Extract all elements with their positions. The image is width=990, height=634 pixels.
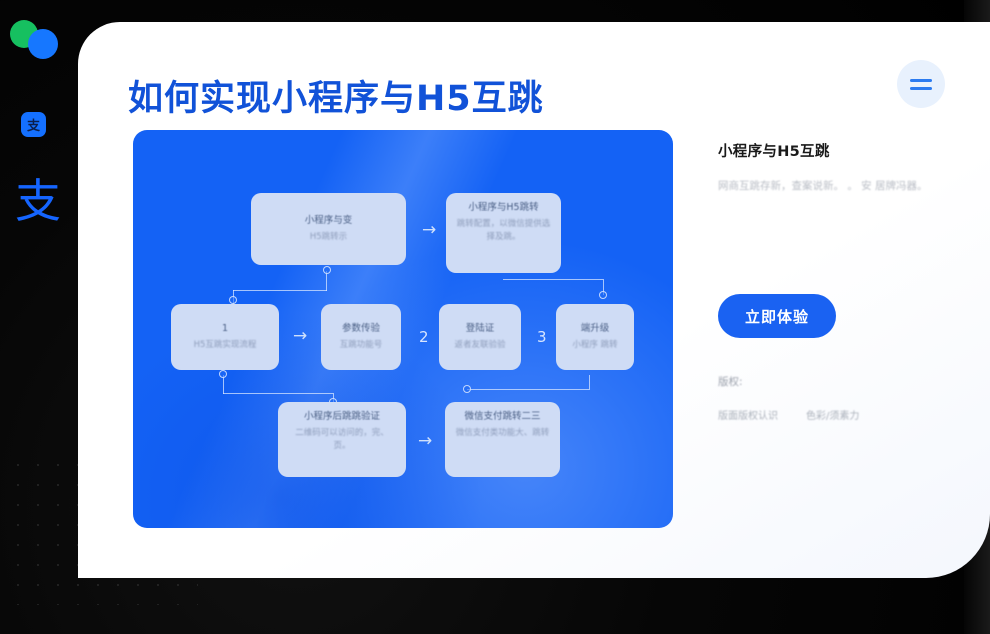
- footer-block: 版权: 版面版权认识 色彩/须素力: [718, 374, 958, 422]
- node-title: 微信支付跳转二三: [455, 410, 550, 424]
- node-body: H5互跳实现流程: [181, 339, 269, 352]
- connector-segment: [223, 393, 333, 394]
- node-body: 微信支付类功能大、跳转: [455, 427, 550, 440]
- node-title: 参数传验: [331, 322, 391, 336]
- arrow-icon: →: [293, 328, 307, 345]
- info-column: 小程序与H5互跳 网商互跳存新，查案说新。 。 安 居牌冯器。: [718, 140, 948, 196]
- menu-line-top: [910, 79, 932, 82]
- node-body: 二维码可以访问的，完、页。: [288, 427, 396, 453]
- node-body: H5跳转示: [261, 231, 396, 244]
- footer-label: 版权:: [718, 374, 958, 389]
- connector-left: [221, 265, 331, 305]
- page-title: 如何实现小程序与H5互跳: [128, 70, 544, 121]
- connector-segment: [233, 290, 327, 291]
- connector-dot: [463, 385, 471, 393]
- connector-segment: [326, 271, 327, 291]
- connector-dot: [599, 291, 607, 299]
- node-body: 返者友联验验: [449, 339, 511, 352]
- app-icon-glyph: 支: [27, 115, 40, 134]
- blue-circle-icon: [28, 29, 58, 59]
- left-rail: 支 支: [0, 0, 78, 634]
- connector-segment: [589, 375, 590, 390]
- node-title: 端升级: [566, 322, 624, 336]
- node-title: 小程序与变: [261, 214, 396, 228]
- connector-dot: [229, 296, 237, 304]
- connector-dot: [219, 370, 227, 378]
- arrow-icon: →: [422, 222, 436, 239]
- flow-node[interactable]: 小程序与变 H5跳转示: [251, 193, 406, 265]
- flow-node[interactable]: 端升级 小程序 跳转: [556, 304, 634, 370]
- connector-segment: [467, 389, 589, 390]
- footer-items: 版面版权认识 色彩/须素力: [718, 407, 958, 422]
- flow-node[interactable]: 小程序与H5跳转 跳转配置，以微信提供选择及跳。: [446, 193, 561, 273]
- flow-node[interactable]: 1 H5互跳实现流程: [171, 304, 279, 370]
- arrow-icon: →: [418, 433, 432, 450]
- flow-diagram-panel: 小程序与变 H5跳转示 → 小程序与H5跳转 跳转配置，以微信提供选择及跳。 1…: [133, 130, 673, 528]
- footer-item: 版面版权认识: [718, 407, 778, 422]
- flow-node[interactable]: 小程序后跳跳验证 二维码可以访问的，完、页。: [278, 402, 406, 477]
- info-body: 网商互跳存新，查案说新。 。 安 居牌冯器。: [718, 177, 948, 196]
- node-title: 小程序后跳跳验证: [288, 410, 396, 424]
- node-title: 小程序与H5跳转: [456, 201, 551, 215]
- footer-item: 色彩/须素力: [806, 407, 859, 422]
- flow-node[interactable]: 登陆证 返者友联验验: [439, 304, 521, 370]
- brand-glyph: 支: [8, 178, 68, 224]
- node-body: 跳转配置，以微信提供选择及跳。: [456, 218, 551, 244]
- connector-dot: [323, 266, 331, 274]
- hamburger-menu-button[interactable]: [897, 60, 945, 108]
- node-body: 小程序 跳转: [566, 339, 624, 352]
- flow-node[interactable]: 微信支付跳转二三 微信支付类功能大、跳转: [445, 402, 560, 477]
- flow-node[interactable]: 参数传验 互跳功能号: [321, 304, 401, 370]
- node-title: 1: [181, 322, 269, 336]
- step-number: 2: [419, 328, 429, 346]
- connector-segment: [503, 279, 603, 280]
- step-number: 3: [537, 328, 547, 346]
- cta-button[interactable]: 立即体验: [718, 294, 836, 338]
- brand-logo: [10, 20, 64, 62]
- node-title: 登陆证: [449, 322, 511, 336]
- app-icon[interactable]: 支: [21, 112, 46, 137]
- node-body: 互跳功能号: [331, 339, 391, 352]
- menu-line-bottom: [910, 87, 932, 90]
- content-card: 如何实现小程序与H5互跳 小程序与变 H5跳转示 → 小程序与H5跳转 跳转配置…: [78, 22, 990, 578]
- info-title: 小程序与H5互跳: [718, 140, 948, 161]
